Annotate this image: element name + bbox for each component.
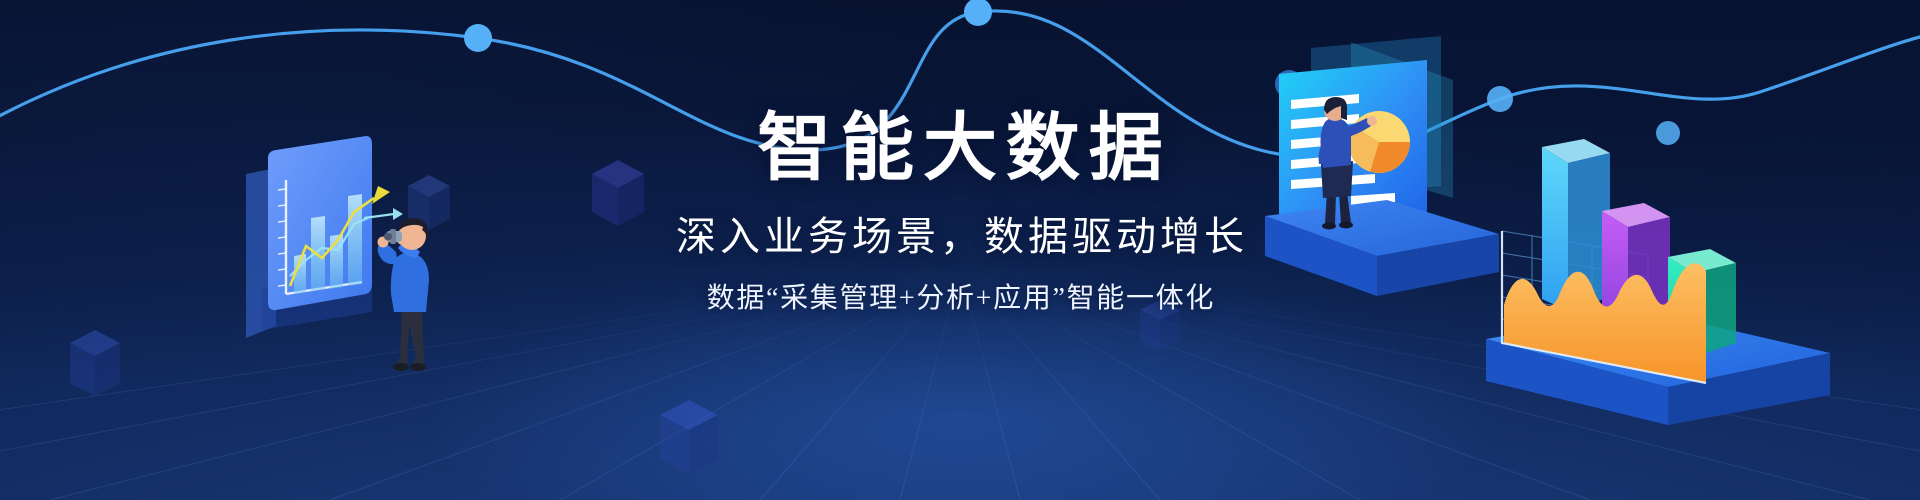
decor-cube bbox=[660, 400, 718, 491]
decor-cube bbox=[70, 330, 120, 413]
page-title: 智能大数据 bbox=[0, 112, 1920, 186]
page-tagline: 数据“采集管理+分析+应用”智能一体化 bbox=[0, 285, 1920, 313]
hero-banner: 智能大数据 深入业务场景，数据驱动增长 数据“采集管理+分析+应用”智能一体化 bbox=[0, 0, 1920, 500]
page-subtitle: 深入业务场景，数据驱动增长 bbox=[0, 217, 1920, 257]
hero-text-block: 智能大数据 深入业务场景，数据驱动增长 数据“采集管理+分析+应用”智能一体化 bbox=[0, 112, 1920, 313]
wave-dot bbox=[964, 0, 992, 26]
wave-dot bbox=[464, 24, 492, 52]
